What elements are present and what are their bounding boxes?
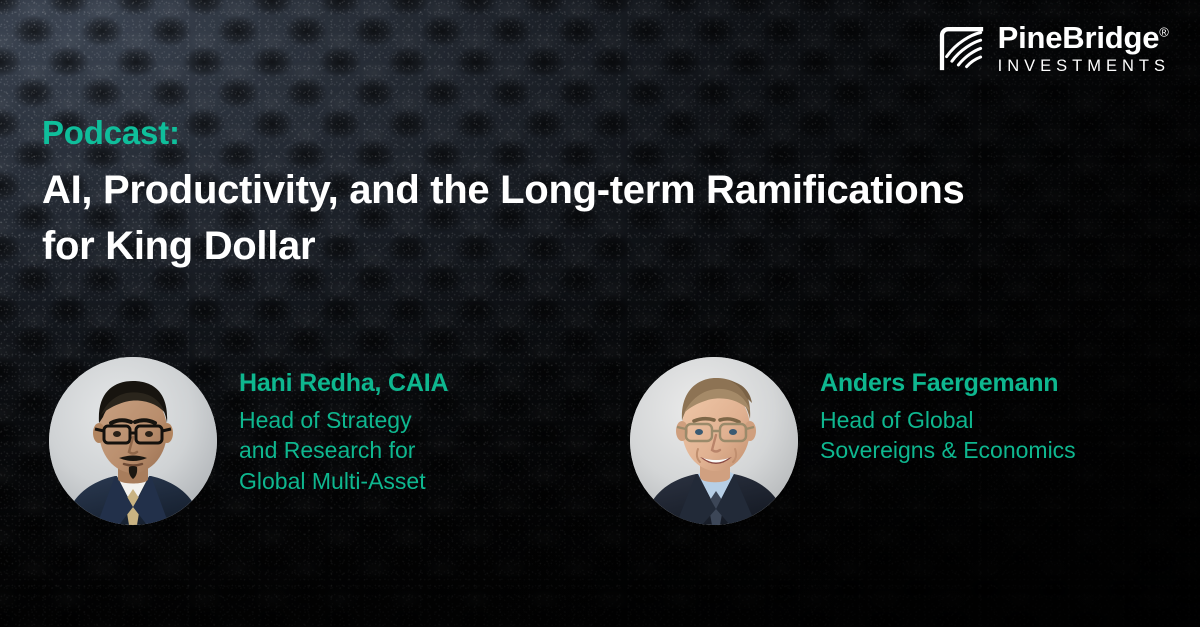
headline-block: Podcast: AI, Productivity, and the Long-… — [42, 116, 1132, 274]
speaker-card: Anders Faergemann Head of Global Soverei… — [630, 357, 1076, 525]
page-title: AI, Productivity, and the Long-term Rami… — [42, 163, 1132, 274]
speaker-role-line-1: Head of Strategy — [239, 405, 448, 436]
avatar — [49, 357, 217, 525]
content-type-label: Podcast: — [42, 116, 1132, 149]
logo-tagline: INVESTMENTS — [998, 58, 1170, 75]
avatar — [630, 357, 798, 525]
speaker-info: Anders Faergemann Head of Global Soverei… — [820, 357, 1076, 466]
speaker-role-line-3: Global Multi-Asset — [239, 466, 448, 497]
speaker-role: Head of Strategy and Research for Global… — [239, 405, 448, 497]
podcast-promo-banner: PineBridge® INVESTMENTS Podcast: AI, Pro… — [0, 0, 1200, 627]
registered-trademark-icon: ® — [1159, 25, 1168, 40]
speaker-role-line-2: and Research for — [239, 435, 448, 466]
logo-brand-name: PineBridge® — [998, 22, 1170, 53]
speaker-role-line-1: Head of Global — [820, 405, 1076, 436]
pinebridge-logo[interactable]: PineBridge® INVESTMENTS — [938, 22, 1170, 75]
title-line-2: for King Dollar — [42, 219, 1132, 275]
pinebridge-wordmark: PineBridge® INVESTMENTS — [998, 22, 1170, 75]
pinebridge-mark-icon — [938, 25, 984, 71]
speaker-info: Hani Redha, CAIA Head of Strategy and Re… — [239, 357, 448, 496]
title-line-1: AI, Productivity, and the Long-term Rami… — [42, 163, 1132, 219]
speaker-role: Head of Global Sovereigns & Economics — [820, 405, 1076, 466]
speaker-name: Hani Redha, CAIA — [239, 370, 448, 398]
speaker-name: Anders Faergemann — [820, 370, 1076, 398]
speaker-card: Hani Redha, CAIA Head of Strategy and Re… — [49, 357, 448, 525]
background-vignette — [0, 0, 1200, 627]
speaker-role-line-2: Sovereigns & Economics — [820, 435, 1076, 466]
